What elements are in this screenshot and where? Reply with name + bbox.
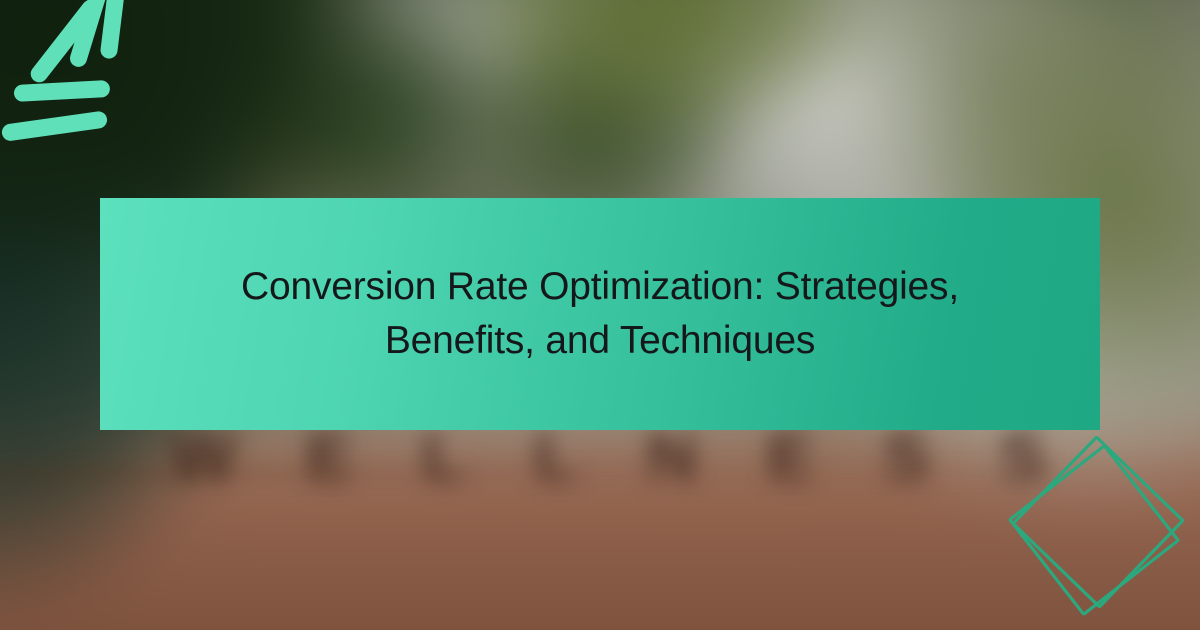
social-card: W E L L N E S S Conversion Rate Optimiza… [0,0,1200,630]
sparkle-ray [14,80,111,102]
title-banner: Conversion Rate Optimization: Strategies… [100,198,1100,430]
square-outline-back [1013,437,1183,607]
rotated-squares-icon [1000,432,1200,630]
page-title: Conversion Rate Optimization: Strategies… [200,260,1000,368]
sparkle-burst-icon [0,0,180,150]
sparkle-ray [100,0,129,60]
square-outline-front [1010,446,1178,614]
sparkle-ray [1,110,108,142]
